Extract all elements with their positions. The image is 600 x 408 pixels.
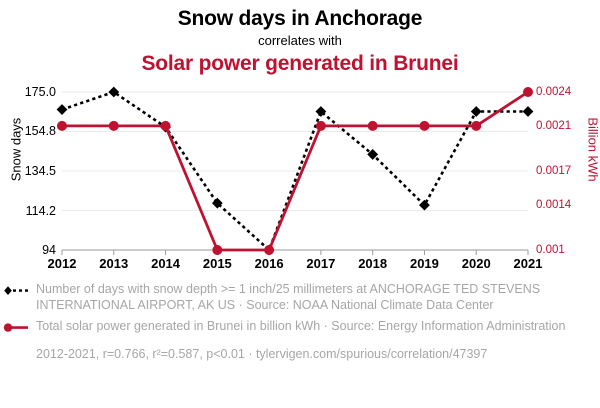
title-connector: correlates with — [0, 32, 600, 50]
chart-footer: Number of days with snow depth >= 1 inch… — [0, 282, 600, 363]
y-axis-left-tick-label: 154.8 — [25, 124, 56, 138]
footnote-label: 2012-2021, r=0.766, r²=0.587, p<0.01 · t… — [36, 347, 487, 361]
y-axis-left-tick-label: 175.0 — [25, 85, 56, 99]
x-axis-tick-label: 2020 — [462, 256, 491, 271]
data-point-marker — [57, 104, 68, 115]
footnote: 2012-2021, r=0.766, r²=0.587, p<0.01 · t… — [0, 345, 600, 363]
x-axis-ticks: 2012201320142015201620172018201920202021 — [62, 256, 528, 276]
legend-item-snow-days: Number of days with snow depth >= 1 inch… — [0, 282, 600, 313]
data-point-marker — [471, 106, 482, 117]
data-point-marker — [316, 121, 326, 131]
legend-item-snow-days-label: Number of days with snow depth >= 1 inch… — [36, 282, 600, 313]
red-circle-solid-line-icon — [2, 321, 32, 335]
data-point-marker — [57, 121, 67, 131]
y-axis-right-tick-label: 0.0024 — [536, 86, 571, 98]
x-axis-tick-label: 2018 — [358, 256, 387, 271]
x-axis-tick-label: 2012 — [48, 256, 77, 271]
y-axis-right-tick-label: 0.0017 — [536, 165, 571, 177]
x-axis-tick-label: 2014 — [151, 256, 180, 271]
data-point-marker — [212, 198, 223, 209]
data-point-marker — [419, 200, 430, 211]
y-axis-left-tick-label: 134.5 — [25, 164, 56, 178]
page-title-secondary: Solar power generated in Brunei — [0, 50, 600, 77]
y-axis-left-ticks: 175.0154.8134.5114.294 — [0, 92, 56, 250]
data-point-marker — [315, 106, 326, 117]
y-axis-right-tick-label: 0.0021 — [536, 120, 571, 132]
black-diamond-dotted-line-icon — [2, 284, 32, 298]
page-title-primary: Snow days in Anchorage — [0, 6, 600, 32]
plot-svg — [62, 92, 528, 250]
plot-region — [62, 92, 528, 250]
data-point-marker — [523, 87, 533, 97]
y-axis-left-tick-label: 114.2 — [26, 204, 56, 218]
data-point-marker — [264, 245, 274, 255]
data-point-marker — [471, 121, 481, 131]
x-axis-tick-label: 2017 — [306, 256, 335, 271]
data-point-marker — [523, 106, 534, 117]
legend-item-solar-power: Total solar power generated in Brunei in… — [0, 319, 600, 335]
x-axis-tick-label: 2015 — [203, 256, 232, 271]
data-point-marker — [212, 245, 222, 255]
legend-item-solar-power-label: Total solar power generated in Brunei in… — [36, 319, 600, 335]
y-axis-right-tick-label: 0.001 — [536, 244, 565, 256]
y-axis-right-ticks: 0.00240.00210.00170.00140.001 — [536, 92, 588, 250]
data-point-marker — [419, 121, 429, 131]
data-point-marker — [161, 121, 171, 131]
chart-area: Snow days Billion kWh 175.0154.8134.5114… — [0, 84, 600, 280]
x-axis-tick-label: 2016 — [255, 256, 284, 271]
y-axis-right-tick-label: 0.0014 — [536, 199, 571, 211]
x-axis-tick-label: 2021 — [514, 256, 543, 271]
data-point-marker — [368, 121, 378, 131]
data-point-marker — [109, 121, 119, 131]
x-axis-tick-label: 2019 — [410, 256, 439, 271]
x-axis-tick-label: 2013 — [99, 256, 128, 271]
chart-title-block: Snow days in Anchorage correlates with S… — [0, 0, 600, 77]
y-axis-left-tick-label: 94 — [42, 243, 56, 257]
